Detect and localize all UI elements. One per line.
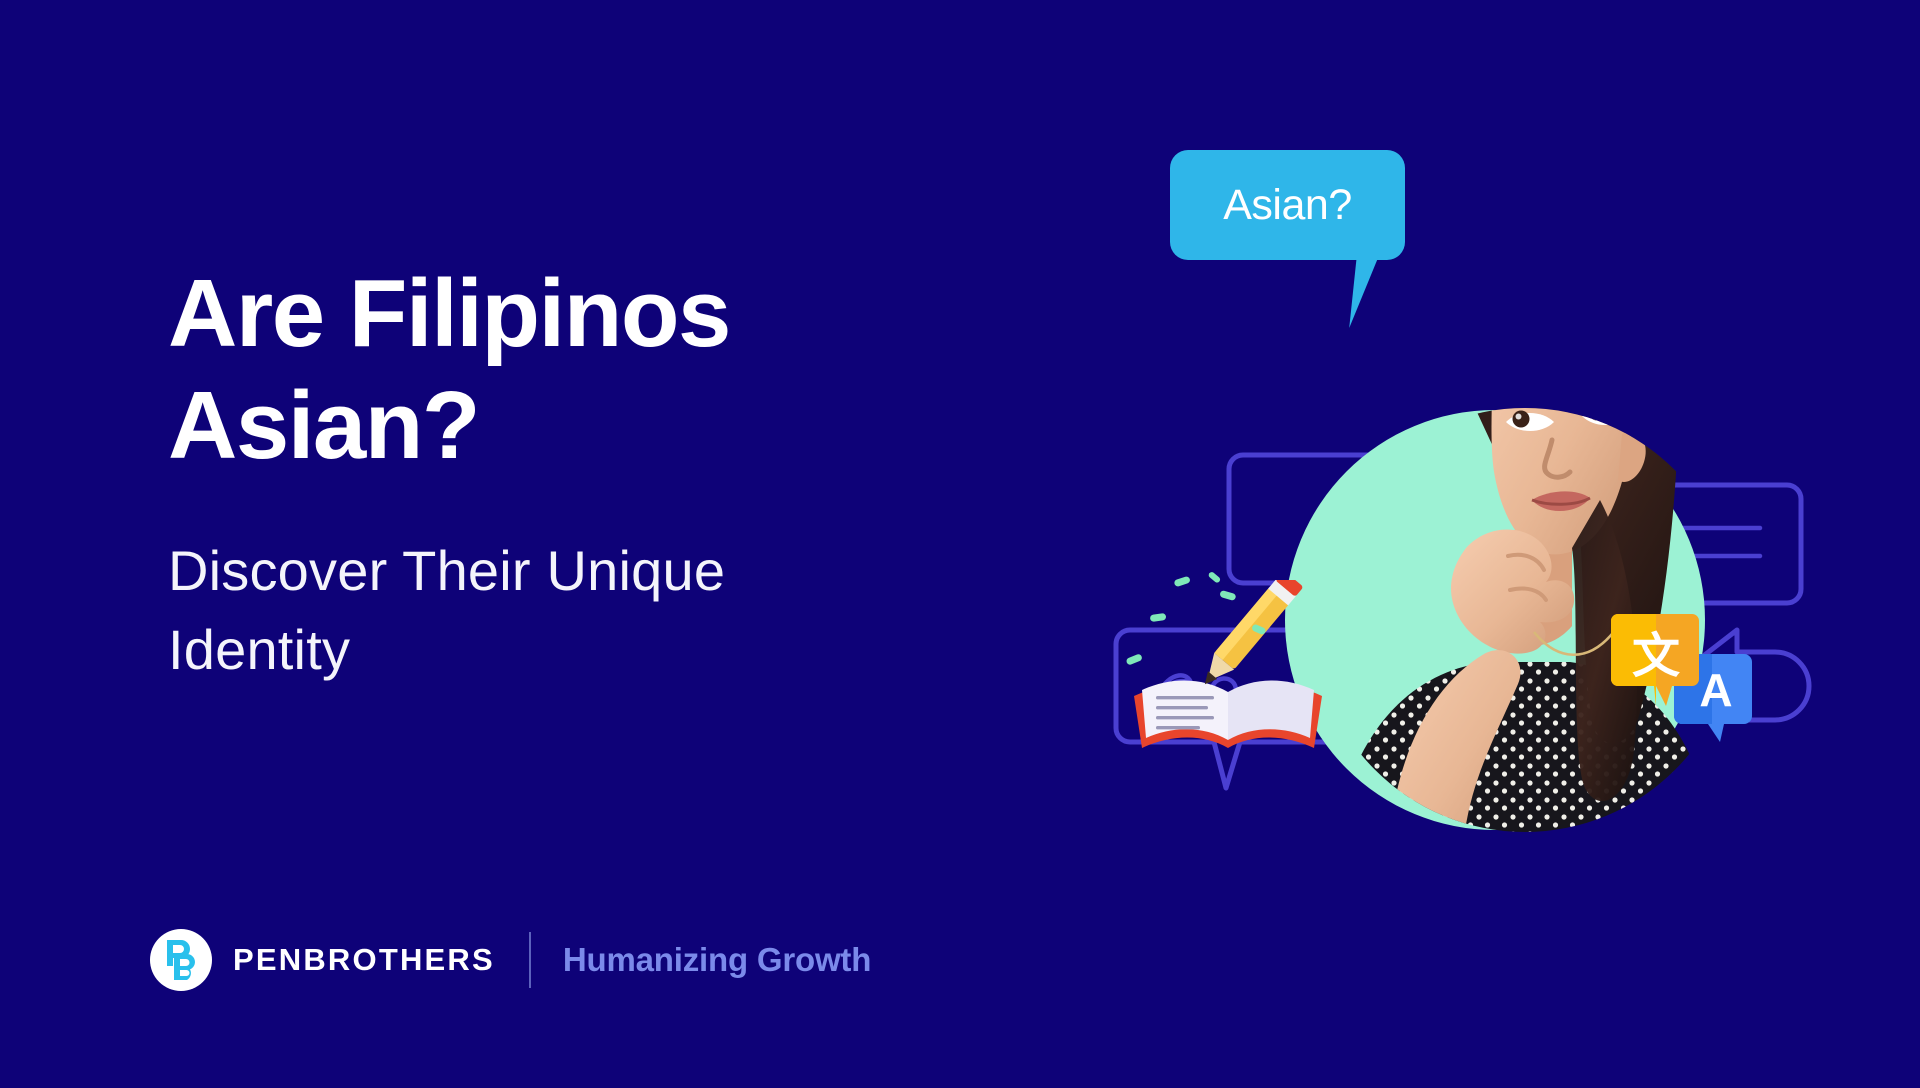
asian-bubble-label: Asian? bbox=[1223, 181, 1351, 230]
hero-illustration: Asian? bbox=[1110, 120, 1870, 880]
penbrothers-monogram-icon bbox=[150, 929, 212, 991]
asian-speech-bubble: Asian? bbox=[1170, 150, 1405, 260]
lockup-divider bbox=[529, 932, 531, 988]
confetti-decor bbox=[1110, 570, 1310, 740]
page-subtitle: Discover Their Unique Identity bbox=[168, 531, 1028, 690]
headline-block: Are Filipinos Asian? Discover Their Uniq… bbox=[168, 258, 1028, 690]
thinking-woman-photo bbox=[1270, 200, 1730, 860]
page-title: Are Filipinos Asian? bbox=[168, 258, 1028, 483]
brand-lockup[interactable]: PENBROTHERS Humanizing Growth bbox=[150, 925, 871, 995]
svg-text:A: A bbox=[1699, 664, 1732, 716]
hero-banner: Are Filipinos Asian? Discover Their Uniq… bbox=[0, 0, 1920, 1088]
svg-text:文: 文 bbox=[1632, 630, 1680, 683]
brand-name: PENBROTHERS bbox=[233, 942, 495, 978]
translate-icon: A 文 bbox=[1610, 610, 1760, 750]
brand-tagline: Humanizing Growth bbox=[563, 941, 871, 979]
